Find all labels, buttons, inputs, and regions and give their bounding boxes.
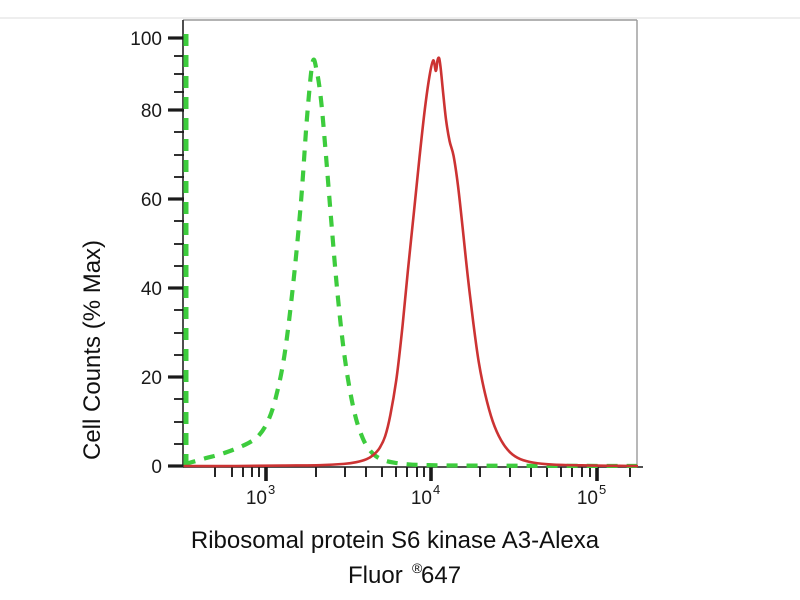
x-tick-label-1e3-mantissa: 10 [246, 488, 267, 509]
y-tick-label-20: 20 [141, 368, 162, 389]
flow-cytometry-histogram-figure: 0 20 40 60 80 100 Cell Counts (% Max) [0, 0, 800, 600]
x-tick-label-1e4-mantissa: 10 [411, 488, 432, 509]
x-tick-label-1e3-exponent: 3 [268, 482, 275, 497]
y-tick-label-40: 40 [141, 279, 162, 300]
x-tick-label-1e4-exponent: 4 [433, 482, 440, 497]
figure-background [0, 0, 800, 600]
y-tick-label-60: 60 [141, 190, 162, 211]
x-axis-title-line2-suffix: 647 [421, 562, 461, 589]
chart-canvas: 0 20 40 60 80 100 Cell Counts (% Max) [0, 0, 800, 600]
x-tick-label-1e5-mantissa: 10 [577, 488, 598, 509]
y-tick-label-0: 0 [151, 457, 162, 478]
y-tick-label-100: 100 [130, 29, 162, 50]
x-tick-label-1e5-exponent: 5 [599, 482, 606, 497]
y-tick-label-80: 80 [141, 101, 162, 122]
x-axis-title-line2-prefix: Fluor [348, 562, 403, 589]
x-axis-title-line1: Ribosomal protein S6 kinase A3-Alexa [191, 527, 600, 554]
y-axis-title: Cell Counts (% Max) [79, 240, 106, 460]
